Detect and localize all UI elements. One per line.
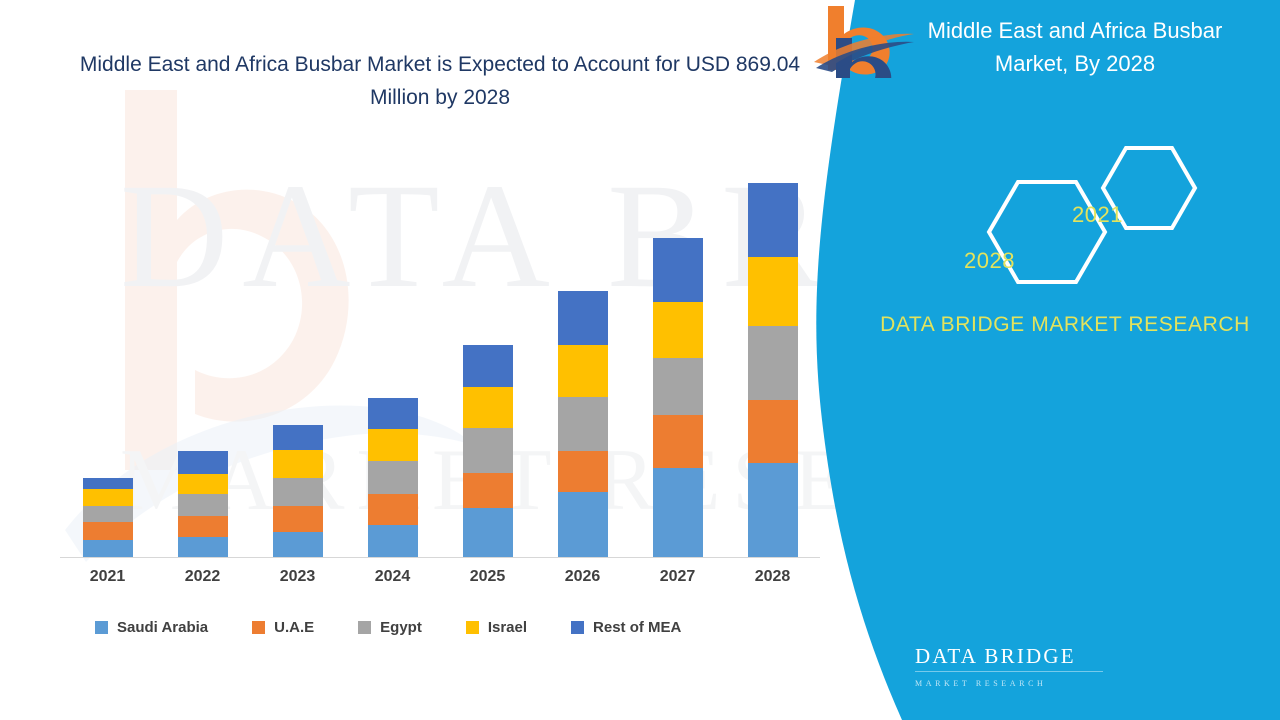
chart-title: Middle East and Africa Busbar Market is … xyxy=(60,48,820,114)
bar-segment xyxy=(558,451,608,492)
x-axis-label: 2021 xyxy=(60,568,155,594)
bar-segment xyxy=(653,468,703,557)
bar-segment xyxy=(83,506,133,522)
bar-segment xyxy=(178,537,228,557)
hexagon-2028-label: 2028 xyxy=(964,248,1015,274)
x-axis-line xyxy=(60,557,820,558)
bar-segment xyxy=(83,522,133,540)
chart-legend: Saudi ArabiaU.A.EEgyptIsraelRest of MEA xyxy=(95,612,795,642)
legend-swatch-icon xyxy=(95,621,108,634)
bar-segment xyxy=(748,183,798,257)
legend-label: U.A.E xyxy=(274,619,314,636)
infographic-root: DATA BRIDGE MARKET RESEARCH Middle East … xyxy=(0,0,1280,720)
bar-stack xyxy=(653,238,703,557)
bar-segment xyxy=(273,532,323,557)
bar-segment xyxy=(748,257,798,326)
bar-segment xyxy=(653,415,703,468)
x-axis-tick-labels: 20212022202320242025202620272028 xyxy=(60,568,820,594)
legend-item[interactable]: Rest of MEA xyxy=(571,619,681,636)
legend-item[interactable]: Israel xyxy=(466,619,527,636)
x-axis-label: 2028 xyxy=(725,568,820,594)
bar-stack xyxy=(273,425,323,557)
legend-swatch-icon xyxy=(252,621,265,634)
bar-segment xyxy=(653,238,703,302)
bar-segment xyxy=(558,291,608,345)
plot-region xyxy=(60,160,820,558)
logo-divider xyxy=(915,671,1103,672)
bar-segment xyxy=(368,429,418,461)
legend-label: Israel xyxy=(488,619,527,636)
bar-segment xyxy=(273,478,323,506)
hexagon-group: 2028 2021 xyxy=(940,140,1260,300)
bar-segment xyxy=(463,508,513,557)
x-axis-label: 2026 xyxy=(535,568,630,594)
bar-segment xyxy=(368,494,418,525)
bar-segment xyxy=(463,473,513,508)
bar-segment xyxy=(463,387,513,428)
bar-segment xyxy=(368,525,418,557)
bar-column xyxy=(535,160,630,557)
bar-segment xyxy=(273,425,323,450)
bar-segment xyxy=(83,489,133,506)
bar-stack xyxy=(558,291,608,557)
right-brand-panel: Middle East and Africa Busbar Market, By… xyxy=(810,0,1280,720)
bar-stack xyxy=(83,478,133,557)
bar-segment xyxy=(178,494,228,516)
x-axis-label: 2027 xyxy=(630,568,725,594)
bar-segment xyxy=(653,302,703,358)
logo-name: DATA BRIDGE xyxy=(915,644,1115,669)
bar-stack xyxy=(368,398,418,557)
bar-segment xyxy=(273,450,323,478)
hexagon-2021-label: 2021 xyxy=(1072,202,1123,228)
bar-column xyxy=(155,160,250,557)
legend-item[interactable]: U.A.E xyxy=(252,619,314,636)
bar-segment xyxy=(748,326,798,400)
x-axis-label: 2025 xyxy=(440,568,535,594)
bar-stack xyxy=(178,451,228,557)
bar-segment xyxy=(463,345,513,387)
bar-segment xyxy=(748,400,798,463)
bar-column xyxy=(725,160,820,557)
legend-item[interactable]: Egypt xyxy=(358,619,422,636)
bar-stack xyxy=(463,345,513,557)
legend-label: Saudi Arabia xyxy=(117,619,208,636)
bar-column xyxy=(250,160,345,557)
bar-segment xyxy=(748,463,798,557)
bar-segment xyxy=(463,428,513,473)
legend-swatch-icon xyxy=(358,621,371,634)
bar-column xyxy=(440,160,535,557)
x-axis-label: 2022 xyxy=(155,568,250,594)
legend-label: Egypt xyxy=(380,619,422,636)
logo-subtitle: MARKET RESEARCH xyxy=(915,679,1115,688)
bar-segment xyxy=(368,398,418,429)
panel-brand-text: DATA BRIDGE MARKET RESEARCH xyxy=(855,310,1275,340)
legend-swatch-icon xyxy=(571,621,584,634)
bar-segment xyxy=(178,451,228,474)
bar-segment xyxy=(558,345,608,397)
data-bridge-logo-mark xyxy=(810,0,1070,78)
bar-segment xyxy=(273,506,323,532)
bar-segment xyxy=(83,478,133,489)
bar-segment xyxy=(653,358,703,415)
bar-segment xyxy=(558,492,608,557)
bar-segment xyxy=(558,397,608,451)
bar-column xyxy=(60,160,155,557)
bar-segment xyxy=(178,474,228,494)
x-axis-label: 2023 xyxy=(250,568,345,594)
bar-series-container xyxy=(60,160,820,557)
bar-segment xyxy=(178,516,228,537)
bar-column xyxy=(345,160,440,557)
chart-area: Middle East and Africa Busbar Market is … xyxy=(0,0,860,720)
legend-label: Rest of MEA xyxy=(593,619,681,636)
logo-text-block: DATA BRIDGE MARKET RESEARCH xyxy=(915,644,1115,688)
bar-stack xyxy=(748,183,798,557)
legend-item[interactable]: Saudi Arabia xyxy=(95,619,208,636)
bar-segment xyxy=(368,461,418,494)
x-axis-label: 2024 xyxy=(345,568,440,594)
bar-segment xyxy=(83,540,133,557)
bar-column xyxy=(630,160,725,557)
legend-swatch-icon xyxy=(466,621,479,634)
